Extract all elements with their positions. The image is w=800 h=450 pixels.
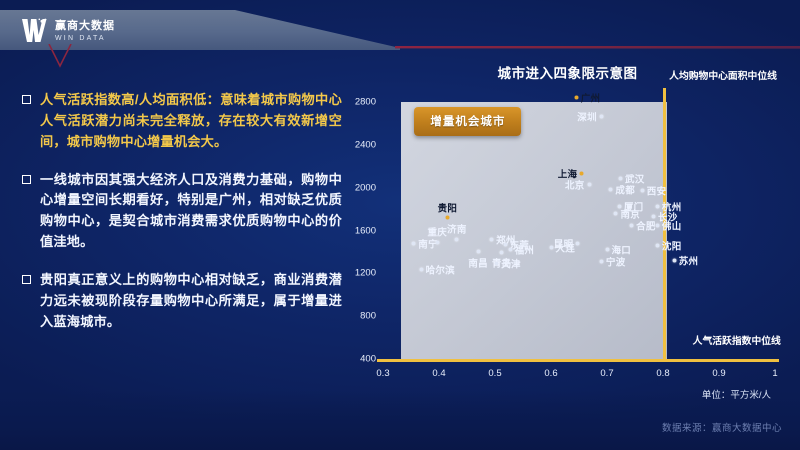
data-point-label: 贵阳 — [438, 200, 458, 214]
data-point-dot — [609, 188, 613, 192]
data-point-label: 南昌 — [468, 255, 488, 269]
data-point-济南: 济南 — [454, 237, 459, 242]
data-point-label: 佛山 — [662, 218, 682, 232]
data-point-dot — [500, 250, 504, 254]
data-point-label: 福州 — [515, 243, 535, 257]
x-tick-1: 1 — [772, 368, 777, 379]
data-point-label: 西安 — [647, 183, 667, 197]
data-point-dot — [412, 241, 416, 245]
square-bullet-icon — [22, 275, 31, 284]
bullet-item-3: 贵阳真正意义上的购物中心相对缺乏，商业消费潜力远未被现阶段存量购物中心所满足，属… — [22, 270, 342, 333]
data-point-海口: 海口 — [605, 247, 610, 252]
data-point-label: 北京 — [565, 177, 585, 191]
y-tick-2800: 2800 — [355, 97, 376, 108]
w-mark-icon — [20, 18, 48, 44]
y-tick-800: 800 — [360, 311, 376, 322]
data-point-昆明: 昆明 — [575, 241, 580, 246]
data-point-大连: 大连 — [549, 245, 554, 250]
axis-unit-label: 单位：平方米/人 — [702, 387, 771, 401]
data-point-dot — [503, 242, 507, 246]
bullet-text-2: 一线城市因其强大经济人口及消费力基础，购物中心增量空间长期看好，特别是广州，相对… — [40, 170, 342, 253]
bullet-list: 人气活跃指数高/人均面积低：意味着城市购物中心人气活跃潜力尚未完全释放，存在较大… — [22, 90, 342, 350]
data-point-label: 宁波 — [606, 255, 626, 269]
badge-label: 增量机会城市 — [430, 116, 505, 128]
data-point-dot — [580, 172, 584, 176]
data-point-dot — [618, 176, 622, 180]
data-point-青岛: 青岛 — [499, 250, 504, 255]
data-point-dot — [655, 205, 659, 209]
bullet-item-2: 一线城市因其强大经济人口及消费力基础，购物中心增量空间长期看好，特别是广州，相对… — [22, 170, 342, 253]
data-point-dot — [508, 248, 512, 252]
data-point-武汉: 武汉 — [618, 176, 623, 181]
data-point-广州: 广州 — [574, 95, 579, 100]
x-tick-0.7: 0.7 — [600, 368, 613, 379]
data-point-label: 天津 — [501, 257, 521, 271]
data-point-label: 成都 — [615, 183, 635, 197]
data-point-label: 济南 — [447, 222, 467, 236]
x-tick-0.6: 0.6 — [544, 368, 557, 379]
data-point-dot — [655, 244, 659, 248]
data-point-label: 广州 — [581, 91, 601, 105]
y-tick-2400: 2400 — [355, 139, 376, 150]
data-point-label: 苏州 — [679, 254, 699, 268]
data-point-dot — [672, 259, 676, 263]
data-point-dot — [655, 223, 659, 227]
y-tick-1200: 1200 — [355, 268, 376, 279]
data-point-dot — [549, 246, 553, 250]
data-point-label: 深圳 — [577, 110, 597, 124]
x-tick-0.8: 0.8 — [656, 368, 669, 379]
data-point-贵阳: 贵阳 — [445, 215, 450, 220]
data-point-上海: 上海 — [579, 171, 584, 176]
header-banner: 赢商大数据 WIN DATA — [0, 0, 800, 60]
data-point-南宁: 南宁 — [411, 241, 416, 246]
bullet-text-3: 贵阳真正意义上的购物中心相对缺乏，商业消费潜力远未被现阶段存量购物中心所满足，属… — [40, 270, 342, 333]
opportunity-quadrant-badge: 增量机会城市 — [414, 107, 521, 136]
data-point-dot — [445, 216, 449, 220]
x-tick-0.5: 0.5 — [488, 368, 501, 379]
data-point-dot — [455, 237, 459, 241]
data-point-南昌: 南昌 — [476, 249, 481, 254]
data-point-北京: 北京 — [587, 182, 592, 187]
source-note: 数据来源：赢商大数据中心 — [662, 420, 782, 434]
data-point-福州: 福州 — [508, 247, 513, 252]
data-point-label: 重庆 — [428, 225, 448, 239]
y-tick-2000: 2000 — [355, 182, 376, 193]
brand-logo: 赢商大数据 WIN DATA — [20, 18, 115, 44]
data-point-dot — [576, 241, 580, 245]
brand-logo-text: 赢商大数据 WIN DATA — [55, 21, 115, 42]
data-point-dot — [630, 223, 634, 227]
brand-name-cn: 赢商大数据 — [55, 21, 115, 32]
scatter-plot-area: 增量机会城市 人均购物中心面积中位线 人气活跃指数中位线 40080012001… — [383, 102, 775, 374]
chart-panel: 城市进入四象限示意图 增量机会城市 人均购物中心面积中位线 人气活跃指数中位线 … — [345, 62, 790, 392]
data-point-dot — [605, 248, 609, 252]
square-bullet-icon — [22, 175, 31, 184]
data-point-佛山: 佛山 — [655, 223, 660, 228]
data-point-dot — [599, 260, 603, 264]
x-tick-0.9: 0.9 — [712, 368, 725, 379]
data-point-哈尔滨: 哈尔滨 — [419, 267, 424, 272]
bullet-item-1: 人气活跃指数高/人均面积低：意味着城市购物中心人气活跃潜力尚未完全释放，存在较大… — [22, 90, 342, 153]
data-point-label: 合肥 — [636, 218, 656, 232]
data-point-苏州: 苏州 — [672, 258, 677, 263]
x-tick-0.4: 0.4 — [432, 368, 445, 379]
y-tick-1600: 1600 — [355, 225, 376, 236]
y-tick-400: 400 — [360, 354, 376, 365]
data-point-合肥: 合肥 — [629, 223, 634, 228]
median-vertical-label: 人均购物中心面积中位线 — [669, 68, 777, 82]
data-point-dot — [476, 250, 480, 254]
data-point-郑州: 郑州 — [489, 237, 494, 242]
x-tick-0.3: 0.3 — [376, 368, 389, 379]
data-point-dot — [435, 240, 439, 244]
data-point-dot — [587, 182, 591, 186]
data-point-深圳: 深圳 — [599, 114, 604, 119]
median-horizontal-label: 人气活跃指数中位线 — [693, 333, 781, 347]
data-point-dot — [614, 211, 618, 215]
data-point-西安: 西安 — [640, 188, 645, 193]
data-point-dot — [490, 237, 494, 241]
data-point-重庆: 重庆 — [435, 240, 440, 245]
data-point-label: 沈阳 — [662, 239, 682, 253]
data-point-label: 昆明 — [554, 236, 574, 250]
data-point-label: 哈尔滨 — [426, 262, 455, 276]
bullet-text-1: 人气活跃指数高/人均面积低：意味着城市购物中心人气活跃潜力尚未完全释放，存在较大… — [40, 90, 342, 153]
data-point-东莞: 东莞 — [503, 242, 508, 247]
data-point-dot — [574, 96, 578, 100]
data-point-宁波: 宁波 — [599, 259, 604, 264]
median-horizontal-line — [377, 359, 779, 362]
data-point-成都: 成都 — [608, 187, 613, 192]
header-red-rule-shadow — [395, 48, 800, 49]
data-point-天津: 天津 — [494, 261, 499, 266]
brand-name-en: WIN DATA — [55, 35, 115, 42]
data-point-dot — [419, 267, 423, 271]
data-point-沈阳: 沈阳 — [655, 243, 660, 248]
data-point-dot — [640, 188, 644, 192]
data-point-dot — [495, 262, 499, 266]
square-bullet-icon — [22, 95, 31, 104]
data-point-dot — [599, 115, 603, 119]
data-point-南京: 南京 — [613, 211, 618, 216]
banner-v-notch-icon — [47, 44, 65, 60]
